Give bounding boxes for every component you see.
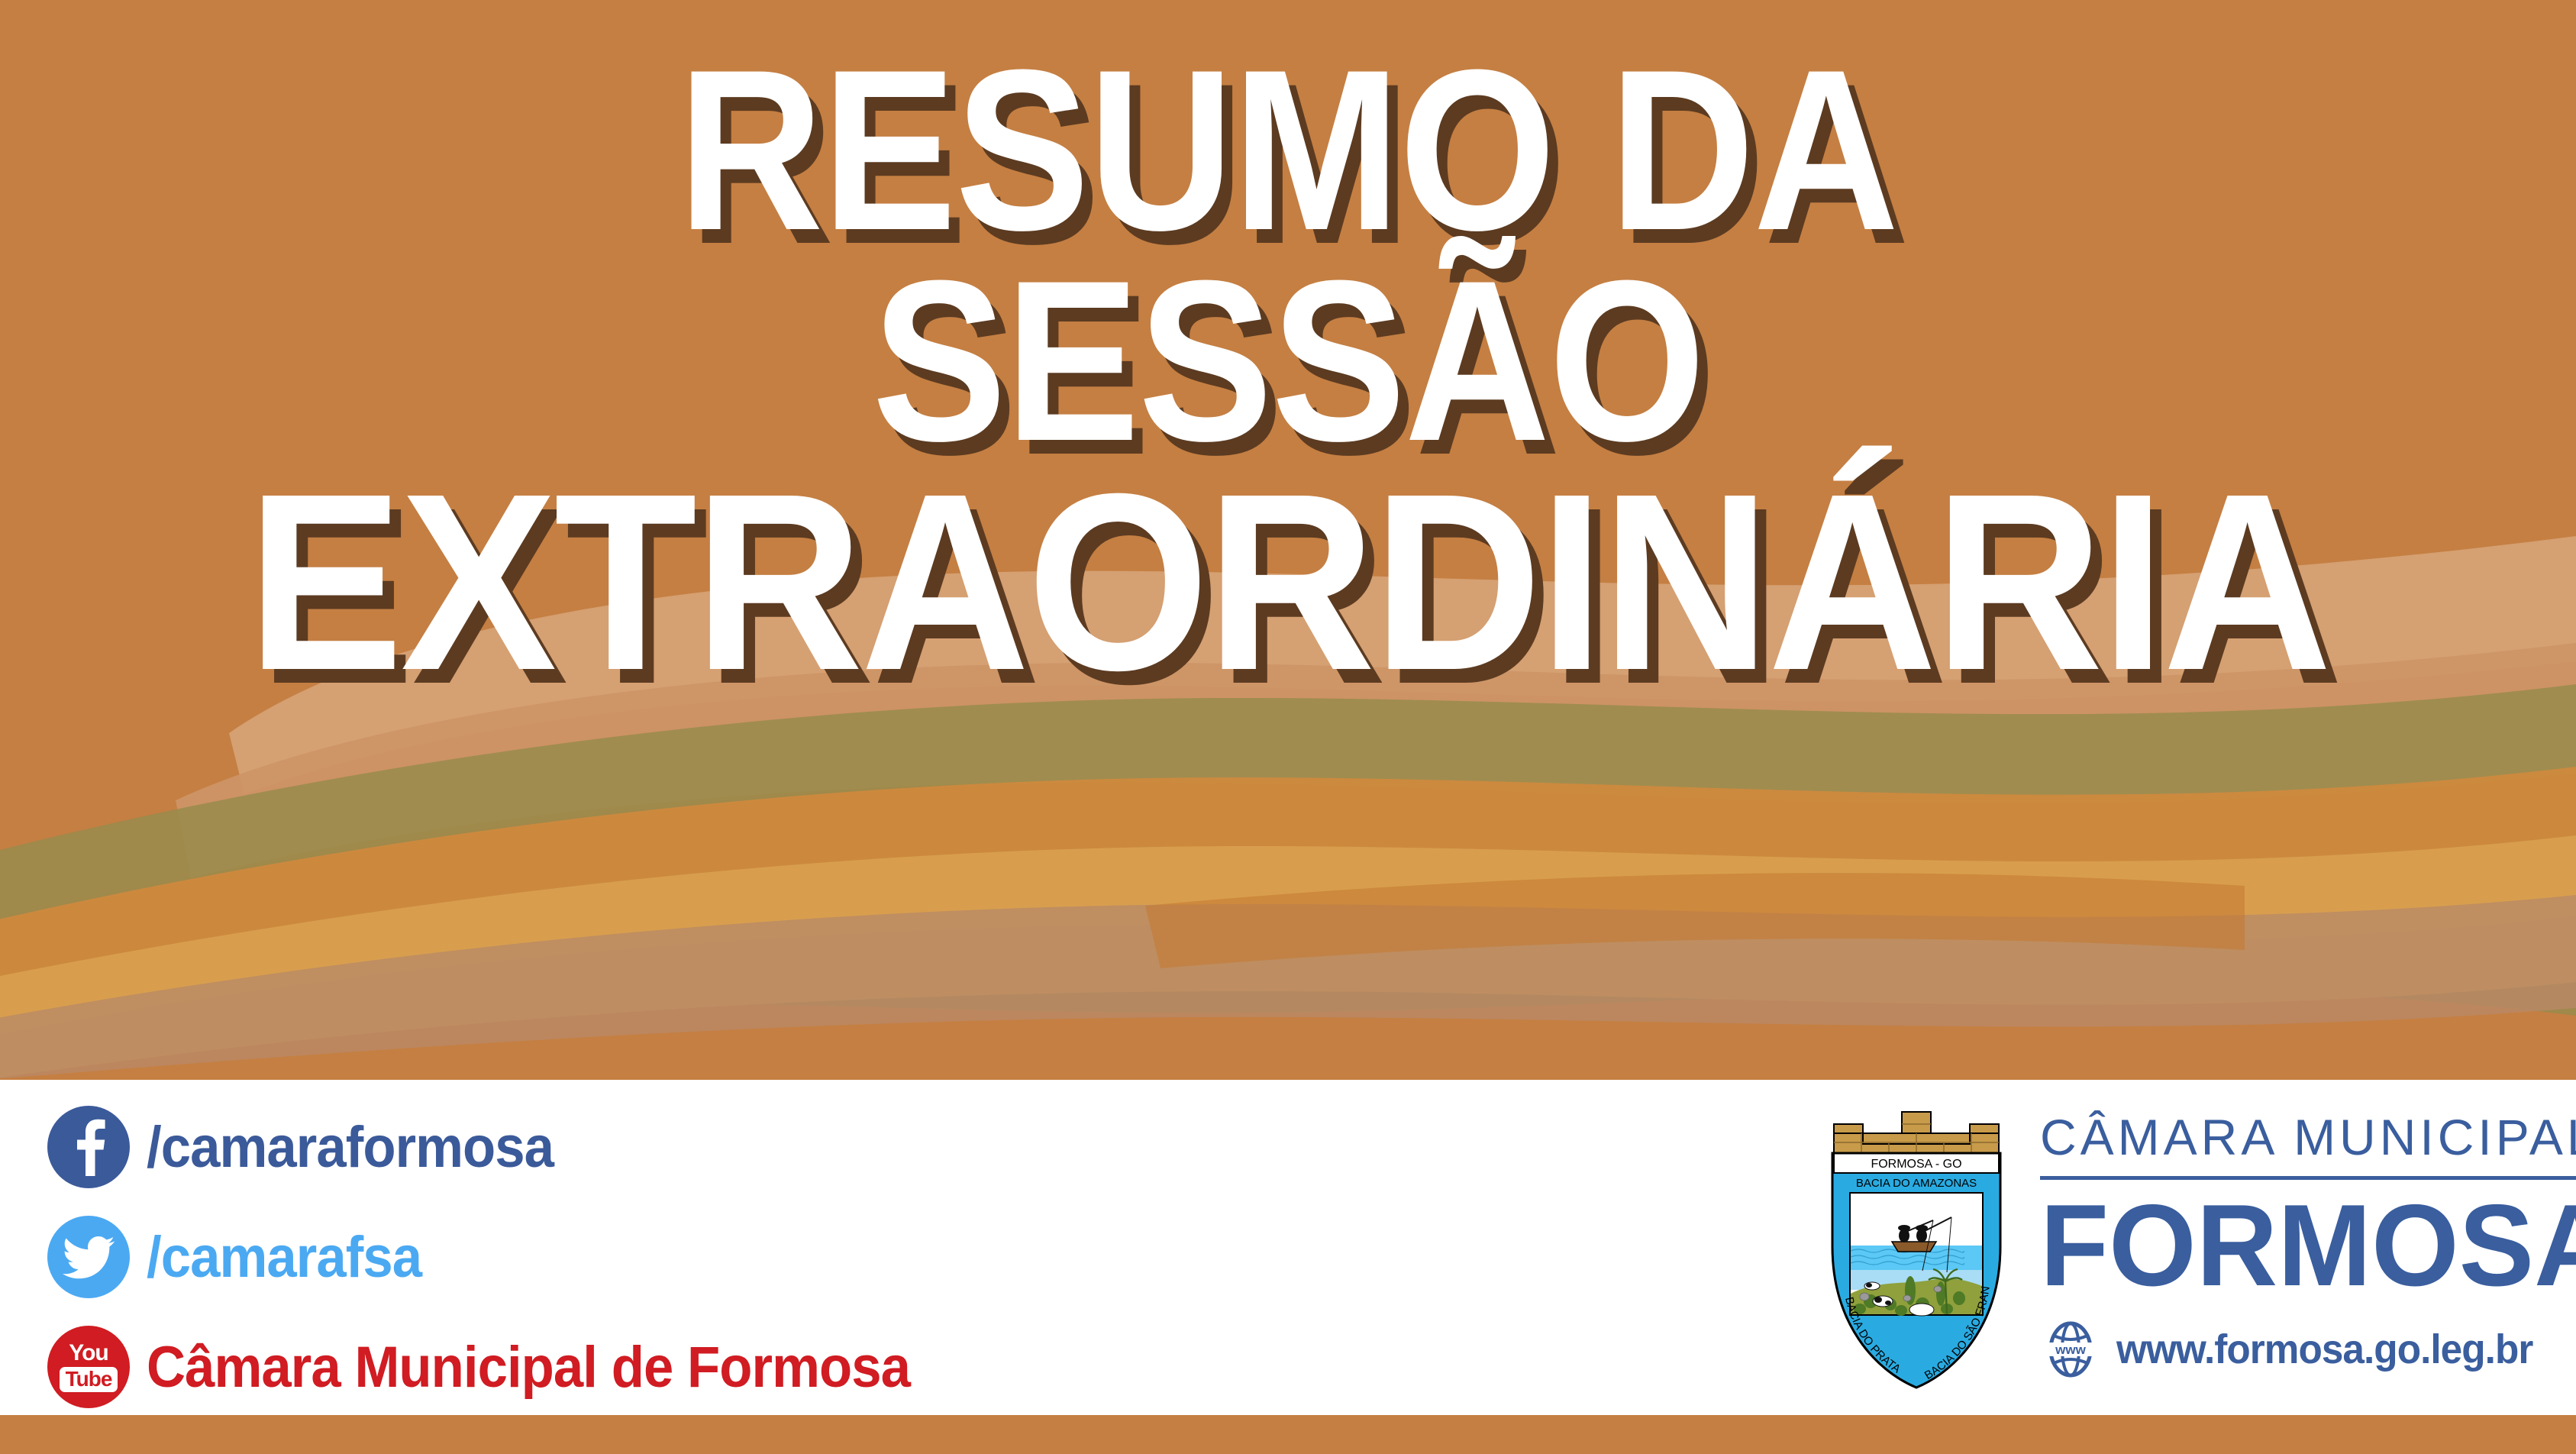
www-globe-label: www [2055,1343,2086,1357]
formosa-coat-of-arms-icon: FORMOSA - GO BACIA DO AMAZONAS [1825,1094,2008,1391]
social-links-list: /camaraformosa /camarafsa You Tube Câmar… [47,1098,1193,1428]
crest-city-label: FORMOSA - GO [1871,1158,1961,1171]
twitter-icon[interactable] [47,1216,130,1298]
social-row-twitter[interactable]: /camarafsa [47,1208,1193,1306]
title-line-2: SESSÃO [872,255,1704,466]
brand-website-url[interactable]: www.formosa.go.leg.br [2116,1326,2532,1373]
poster-root: RESUMO DA SESSÃO EXTRAORDINÁRIA /camaraf… [0,0,2576,1454]
youtube-glyph: You Tube [60,1342,118,1392]
youtube-icon[interactable]: You Tube [47,1326,130,1408]
crest-basin-top-label: BACIA DO AMAZONAS [1856,1177,1977,1190]
brand-divider [2040,1176,2576,1180]
www-globe-icon: www [2040,1319,2101,1380]
title-line-3: EXTRAORDINÁRIA [247,466,2329,698]
facebook-glyph [47,1106,130,1188]
social-row-youtube[interactable]: You Tube Câmara Municipal de Formosa [47,1318,1193,1416]
brand-subtitle: CÂMARA MUNICIPAL [2040,1112,2576,1162]
twitter-glyph [47,1216,130,1298]
brand-lockup: FORMOSA - GO BACIA DO AMAZONAS [1825,1094,2576,1391]
social-row-facebook[interactable]: /camaraformosa [47,1098,1193,1196]
poster-title-block: RESUMO DA SESSÃO EXTRAORDINÁRIA [0,0,2576,1080]
title-line-1: RESUMO DA [678,44,1898,255]
twitter-handle[interactable]: /camarafsa [147,1224,421,1291]
brand-website-row[interactable]: www www.formosa.go.leg.br [2040,1319,2576,1380]
brand-title: FORMOSA [2040,1187,2576,1304]
facebook-handle[interactable]: /camaraformosa [147,1114,554,1181]
bottom-accent-strip [0,1415,2576,1454]
hero-banner: RESUMO DA SESSÃO EXTRAORDINÁRIA [0,0,2576,1080]
youtube-glyph-top: You [69,1342,108,1365]
facebook-icon[interactable] [47,1106,130,1188]
youtube-glyph-bottom: Tube [60,1367,118,1392]
youtube-channel-name[interactable]: Câmara Municipal de Formosa [147,1334,910,1401]
brand-text-block: CÂMARA MUNICIPAL FORMOSA www www.formosa… [2040,1094,2576,1380]
